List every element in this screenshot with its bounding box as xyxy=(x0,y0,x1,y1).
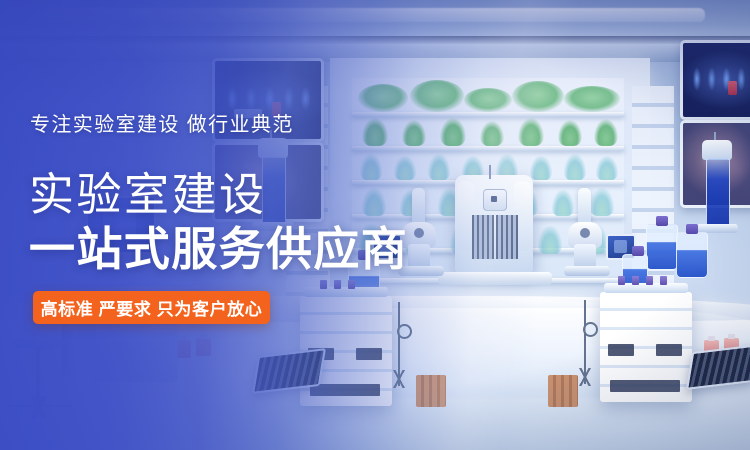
hero-banner: 专注实验室建设 做行业典范 实验室建设 一站式服务供应商 高标准 严要求 只为客… xyxy=(0,0,750,450)
banner-content: 专注实验室建设 做行业典范 实验室建设 一站式服务供应商 高标准 严要求 只为客… xyxy=(0,0,750,450)
cta-badge-label: 高标准 严要求 只为客户放心 xyxy=(41,295,263,320)
banner-headline-line2: 一站式服务供应商 xyxy=(29,226,408,272)
banner-headline-line1: 实验室建设 xyxy=(29,172,267,217)
cta-badge[interactable]: 高标准 严要求 只为客户放心 xyxy=(33,291,270,324)
banner-tagline: 专注实验室建设 做行业典范 xyxy=(30,108,294,137)
